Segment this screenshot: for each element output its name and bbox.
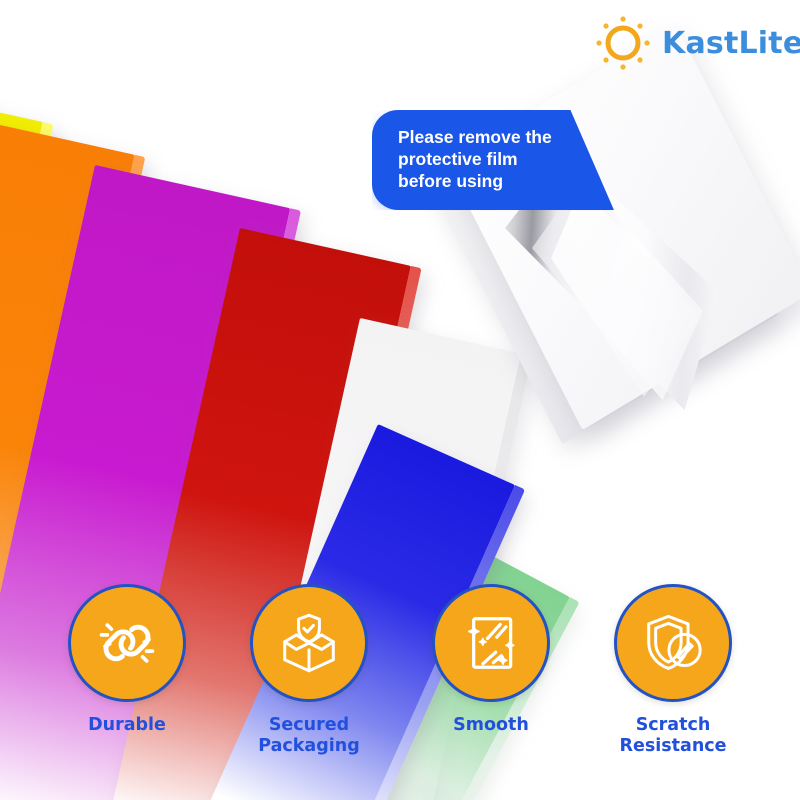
brand-wordmark: KastLite — [662, 26, 800, 61]
feature-icon-circle — [250, 584, 368, 702]
feature-label: Durable — [88, 715, 166, 736]
feature-secured-packaging: Secured Packaging — [248, 584, 370, 784]
callout-text: Please remove the protective film before… — [398, 127, 552, 191]
feature-icon-circle — [432, 584, 550, 702]
sparkle-panel-icon — [454, 606, 528, 680]
product-marketing-image: KastLite Please remove the protective fi… — [0, 0, 800, 800]
feature-label: Smooth — [453, 715, 529, 736]
feature-scratch-resistance: Scratch Resistance — [612, 584, 734, 784]
feature-icon-circle — [68, 584, 186, 702]
feature-label: Scratch Resistance — [619, 715, 726, 756]
feature-smooth: Smooth — [430, 584, 552, 784]
feature-label: Secured Packaging — [258, 715, 360, 756]
feature-icon-circle — [614, 584, 732, 702]
shield-box-icon — [272, 606, 346, 680]
brand-logo: KastLite — [592, 14, 800, 72]
feature-badges: Durable Secured Packaging — [0, 584, 800, 784]
sun-icon — [592, 14, 654, 72]
chain-link-icon — [90, 606, 164, 680]
shield-blade-icon — [636, 606, 710, 680]
feature-durable: Durable — [66, 584, 188, 784]
